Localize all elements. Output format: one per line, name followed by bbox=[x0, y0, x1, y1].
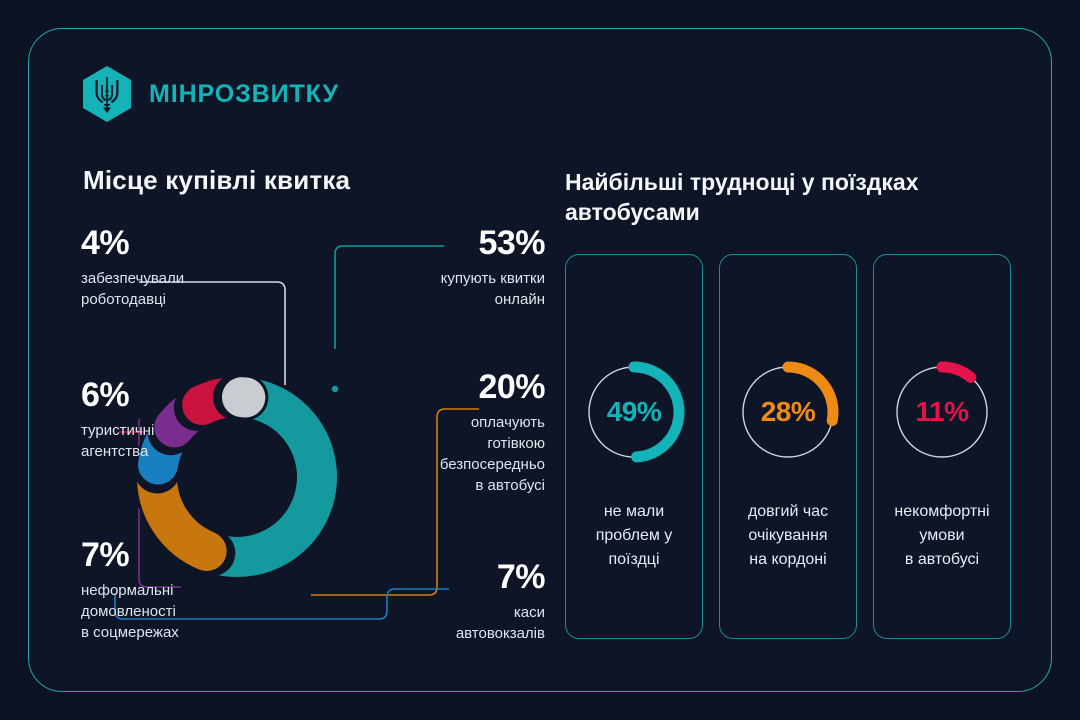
label-6-value: 6% bbox=[81, 377, 154, 413]
ring-28-value: 28% bbox=[734, 358, 842, 466]
label-53-percent: 53% купують квиткионлайн bbox=[395, 225, 545, 310]
label-7-social-value: 7% bbox=[81, 537, 179, 573]
card-caption-uncomfortable: некомфортніумовив автобусі bbox=[888, 500, 995, 572]
ring-49: 49% bbox=[580, 358, 688, 466]
label-20-desc: оплачуютьготівкоюбезпосередньов автобусі bbox=[385, 412, 545, 496]
ring-11: 11% bbox=[888, 358, 996, 466]
donut-marker-dot bbox=[332, 386, 338, 392]
difficulty-card-no-problems: 49% не малипроблем упоїздці bbox=[565, 254, 703, 639]
difficulty-card-border-wait: 28% довгий часочікуванняна кордоні bbox=[719, 254, 857, 639]
ticket-purchase-chart-panel: 4% забезпечувалироботодавці 6% туристичн… bbox=[29, 29, 559, 693]
ring-49-value: 49% bbox=[580, 358, 688, 466]
label-53-value: 53% bbox=[395, 225, 545, 261]
ring-28: 28% bbox=[734, 358, 842, 466]
label-7-kasy-value: 7% bbox=[395, 559, 545, 595]
label-7-kasy-percent: 7% касиавтовокзалів bbox=[395, 559, 545, 644]
card-caption-no-problems: не малипроблем упоїздці bbox=[590, 500, 679, 572]
label-4-percent: 4% забезпечувалироботодавці bbox=[81, 225, 184, 310]
ring-11-value: 11% bbox=[888, 358, 996, 466]
label-7-kasy-desc: касиавтовокзалів bbox=[395, 602, 545, 644]
label-4-desc: забезпечувалироботодавці bbox=[81, 268, 184, 310]
label-20-value: 20% bbox=[385, 369, 545, 405]
label-53-desc: купують квиткионлайн bbox=[395, 268, 545, 310]
label-4-value: 4% bbox=[81, 225, 184, 261]
difficulty-card-uncomfortable: 11% некомфортніумовив автобусі bbox=[873, 254, 1011, 639]
right-section-title: Найбільші труднощі у поїздках автобусами bbox=[565, 167, 995, 227]
card-caption-border-wait: довгий часочікуванняна кордоні bbox=[742, 500, 834, 572]
label-6-desc: туристичніагентства bbox=[81, 420, 154, 462]
label-20-percent: 20% оплачуютьготівкоюбезпосередньов авто… bbox=[385, 369, 545, 496]
difficulties-card-list: 49% не малипроблем упоїздці 28% довгий ч… bbox=[565, 254, 1011, 639]
outer-frame: МІНРОЗВИТКУ Місце купівлі квитка Найбіль… bbox=[28, 28, 1052, 692]
label-7-social-percent: 7% неформальнідомовленостів соцмережах bbox=[81, 537, 179, 643]
label-7-social-desc: неформальнідомовленостів соцмережах bbox=[81, 580, 179, 643]
label-6-percent: 6% туристичніагентства bbox=[81, 377, 154, 462]
